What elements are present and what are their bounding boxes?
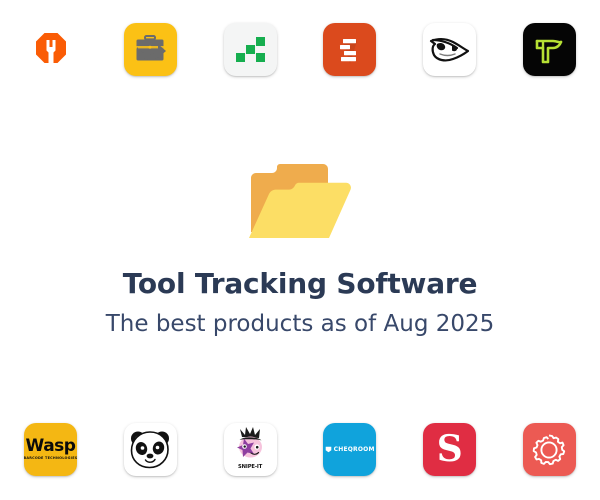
hammer-icon[interactable]: [523, 23, 576, 76]
bars-glyph: [330, 30, 370, 70]
panda-icon[interactable]: [124, 423, 177, 476]
snipe-it-glyph: [224, 423, 277, 476]
bars-icon[interactable]: [323, 23, 376, 76]
steps-icon[interactable]: [224, 23, 277, 76]
cheqroom-logo-wrap: CHEQROOM: [325, 446, 375, 453]
toolbox-icon[interactable]: [124, 23, 177, 76]
wasp-icon[interactable]: Wasp BARCODE TECHNOLOGIES: [24, 423, 77, 476]
wasp-wordmark: Wasp: [26, 438, 76, 455]
wrench-glyph: [31, 30, 71, 70]
hammer-glyph: [530, 31, 568, 69]
gear-icon[interactable]: [523, 423, 576, 476]
page-title: Tool Tracking Software: [0, 266, 600, 301]
s-letter-wordmark: S: [437, 431, 463, 467]
product-listing-page: Tool Tracking Software The best products…: [0, 0, 600, 500]
wasp-logo-stack: Wasp BARCODE TECHNOLOGIES: [24, 438, 77, 460]
page-subtitle: The best products as of Aug 2025: [0, 310, 600, 340]
panda-glyph: [127, 429, 173, 471]
snipe-it-icon[interactable]: SNIPE-IT: [224, 423, 277, 476]
wasp-tagline: BARCODE TECHNOLOGIES: [24, 457, 77, 460]
wrench-icon[interactable]: [24, 23, 77, 76]
toolbox-glyph: [130, 30, 170, 70]
hero-folder-illustration: [0, 160, 600, 250]
top-product-logo-row: [0, 23, 600, 76]
bottom-product-logo-row: Wasp BARCODE TECHNOLOGIES: [0, 423, 600, 476]
steps-glyph: [231, 31, 269, 69]
s-letter-icon[interactable]: S: [423, 423, 476, 476]
hound-icon[interactable]: [423, 23, 476, 76]
open-folder-icon: [245, 160, 355, 250]
hound-glyph: [428, 30, 472, 70]
gear-glyph: [531, 432, 567, 468]
cheqroom-mark-icon: [325, 446, 332, 453]
cheqroom-icon[interactable]: CHEQROOM: [323, 423, 376, 476]
cheqroom-wordmark: CHEQROOM: [334, 446, 375, 453]
